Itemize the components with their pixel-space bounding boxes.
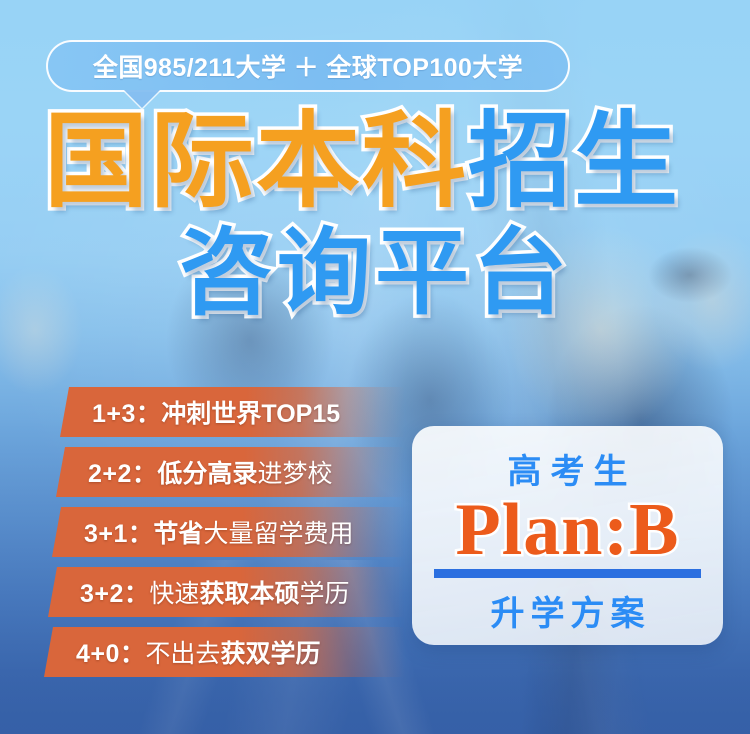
plan-card-main-label: Plan:B (412, 488, 723, 573)
program-code: 1+3： (92, 400, 161, 428)
plan-b-card[interactable]: 高考生 Plan:B 升学方案 (412, 426, 723, 645)
program-bar[interactable]: 3+1：节省大量留学费用 (52, 507, 405, 557)
program-code: 3+1： (84, 520, 153, 548)
program-bold-text: 低分高录 (157, 460, 257, 488)
plan-card-underline (434, 569, 701, 578)
university-badge: 全国985/211大学 ＋ 全球TOP100大学 (46, 40, 570, 92)
plan-card-top-label: 高考生 (412, 444, 723, 493)
program-bold-text: 获双学历 (220, 640, 320, 668)
headline-line-1: 国际本科招生 (44, 108, 724, 217)
program-bold-text: 节省 (153, 520, 203, 548)
program-bar-label: 2+2：低分高录进梦校 (56, 454, 332, 490)
program-bar[interactable]: 3+2：快速获取本硕学历 (48, 567, 405, 617)
program-light-text: 不出去 (145, 640, 220, 668)
headline-blue-part: 招生 (468, 104, 680, 220)
program-light-text: 进梦校 (257, 460, 332, 488)
program-bar-label: 3+1：节省大量留学费用 (52, 514, 353, 550)
program-bar-label: 3+2：快速获取本硕学历 (48, 574, 349, 610)
program-code: 3+2： (80, 580, 149, 608)
badge-label: 全国985/211大学 ＋ 全球TOP100大学 (93, 48, 523, 84)
plan-card-bottom-label: 升学方案 (412, 586, 723, 635)
program-code: 2+2： (88, 460, 157, 488)
program-bar[interactable]: 1+3：冲刺世界TOP15 (60, 387, 405, 437)
headline-subtitle: 咨询平台 (179, 220, 571, 325)
program-light-text: 大量留学费用 (203, 520, 353, 548)
program-bar-label: 4+0：不出去获双学历 (44, 634, 320, 670)
program-light-text-2: 学历 (299, 580, 349, 608)
program-bar-label: 1+3：冲刺世界TOP15 (60, 394, 340, 430)
headline-line-2: 咨询平台 (0, 224, 750, 323)
promo-banner: 全国985/211大学 ＋ 全球TOP100大学 国际本科招生 咨询平台 1+3… (0, 0, 750, 734)
program-light-text: 快速 (149, 580, 199, 608)
program-bold-text: 获取本硕 (199, 580, 299, 608)
badge-pill: 全国985/211大学 ＋ 全球TOP100大学 (46, 40, 570, 92)
program-code: 4+0： (76, 640, 145, 668)
program-bar[interactable]: 2+2：低分高录进梦校 (56, 447, 405, 497)
program-bold-text: 冲刺世界TOP15 (161, 400, 340, 428)
headline-orange-part: 国际本科 (44, 104, 468, 220)
program-bar[interactable]: 4+0：不出去获双学历 (44, 627, 405, 677)
